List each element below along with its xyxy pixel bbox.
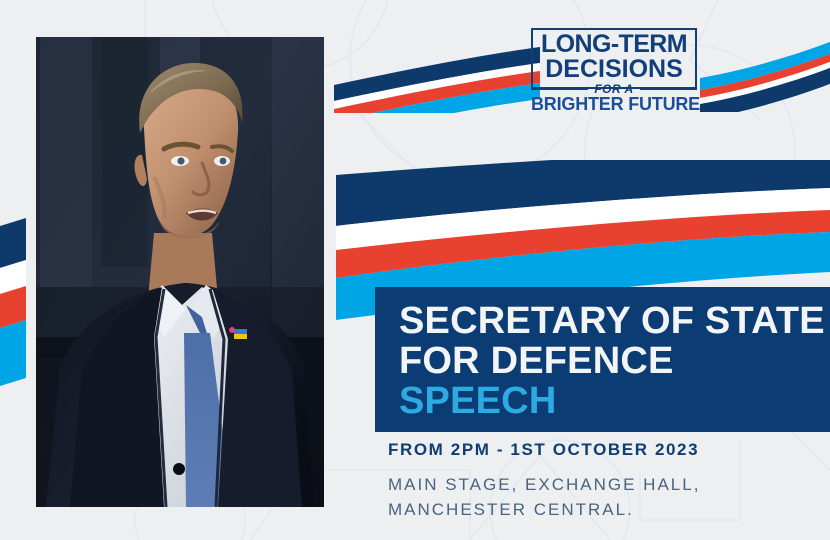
logo-line-2: DECISIONS bbox=[531, 56, 697, 82]
logo-line-4: BRIGHTER FUTURE bbox=[531, 95, 697, 114]
logo-line-1: LONG-TERM bbox=[531, 31, 697, 57]
event-date-time: FROM 2PM - 1ST OCTOBER 2023 bbox=[388, 440, 818, 460]
event-venue-line-1: MAIN STAGE, EXCHANGE HALL, bbox=[388, 472, 818, 497]
event-graphic: SECRETARY OF STATE FOR DEFENCE SPEECH FR… bbox=[0, 0, 830, 540]
speaker-photo bbox=[36, 37, 324, 507]
event-title: SECRETARY OF STATE FOR DEFENCE SPEECH bbox=[399, 301, 830, 421]
event-venue-line-2: MANCHESTER CENTRAL. bbox=[388, 497, 818, 522]
event-title-line-2: FOR DEFENCE bbox=[399, 341, 830, 381]
event-title-line-3: SPEECH bbox=[399, 381, 830, 421]
headline-panel: SECRETARY OF STATE FOR DEFENCE SPEECH bbox=[375, 287, 830, 432]
swoosh-top-left bbox=[330, 33, 540, 113]
campaign-logo: LONG-TERM DECISIONS FOR A BRIGHTER FUTUR… bbox=[531, 28, 697, 104]
left-flag-bars bbox=[0, 218, 26, 386]
event-title-line-1: SECRETARY OF STATE bbox=[399, 301, 830, 341]
logo-rule-right bbox=[640, 88, 697, 90]
event-details: FROM 2PM - 1ST OCTOBER 2023 MAIN STAGE, … bbox=[388, 440, 818, 522]
swoosh-top-right bbox=[700, 22, 830, 112]
logo-rule-left bbox=[531, 88, 588, 90]
